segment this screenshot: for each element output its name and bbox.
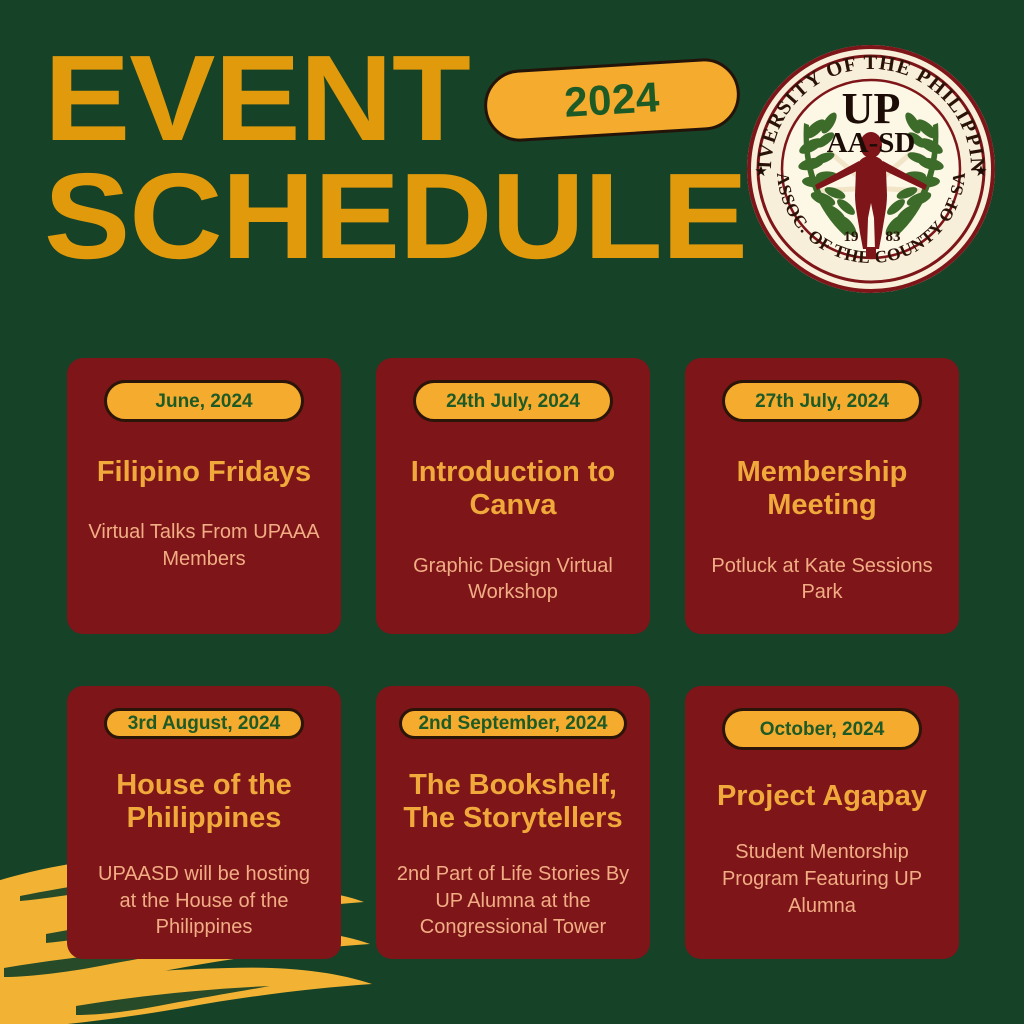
event-date-pill: 24th July, 2024 [413, 380, 613, 422]
seal-year-right: 83 [886, 229, 901, 245]
event-description: Student Mentorship Program Featuring UP … [699, 839, 945, 919]
event-card[interactable]: 3rd August, 2024 House of the Philippine… [67, 686, 341, 959]
seal-icon: UNIVERSITY OF THE PHILIPPINES ALUMNI ASS… [745, 43, 997, 295]
event-date-label: 2nd September, 2024 [418, 714, 607, 733]
event-description: Potluck at Kate Sessions Park [699, 553, 945, 606]
event-title: Membership Meeting [699, 456, 945, 523]
title-line-schedule: SCHEDULE [44, 160, 786, 272]
event-card[interactable]: 24th July, 2024 Introduction to Canva Gr… [376, 358, 650, 634]
event-date-label: October, 2024 [760, 720, 885, 739]
event-date-pill: 27th July, 2024 [722, 380, 922, 422]
event-title: The Bookshelf, The Storytellers [390, 769, 636, 836]
seal-chapter: AA-SD [827, 127, 916, 159]
event-card[interactable]: 27th July, 2024 Membership Meeting Potlu… [685, 358, 959, 634]
event-description: Virtual Talks From UPAAA Members [81, 519, 327, 572]
upaasd-logo-seal: UNIVERSITY OF THE PHILIPPINES ALUMNI ASS… [745, 43, 997, 295]
event-card[interactable]: 2nd September, 2024 The Bookshelf, The S… [376, 686, 650, 959]
event-date-label: June, 2024 [155, 392, 252, 411]
seal-year-left: 19 [844, 229, 859, 245]
event-date-pill: October, 2024 [722, 708, 922, 750]
event-title: Introduction to Canva [390, 456, 636, 523]
event-date-pill: 2nd September, 2024 [399, 708, 626, 739]
event-date-label: 24th July, 2024 [446, 392, 580, 411]
event-cards-grid: June, 2024 Filipino Fridays Virtual Talk… [67, 358, 959, 959]
event-title: Project Agapay [713, 780, 931, 813]
event-date-pill: June, 2024 [104, 380, 304, 422]
seal-star-left-icon: ★ [754, 163, 767, 180]
event-card[interactable]: October, 2024 Project Agapay Student Men… [685, 686, 959, 959]
event-description: Graphic Design Virtual Workshop [390, 553, 636, 606]
seal-star-right-icon: ★ [974, 163, 987, 180]
event-card[interactable]: June, 2024 Filipino Fridays Virtual Talk… [67, 358, 341, 634]
year-badge-label: 2024 [563, 76, 661, 124]
event-title: House of the Philippines [81, 769, 327, 836]
event-title: Filipino Fridays [93, 456, 315, 489]
event-schedule-poster: EVENT SCHEDULE 2024 UNIVERSITY OF THE P [0, 0, 1024, 1024]
event-description: UPAASD will be hosting at the House of t… [81, 861, 327, 941]
event-date-pill: 3rd August, 2024 [104, 708, 304, 739]
event-date-label: 3rd August, 2024 [128, 714, 280, 733]
event-date-label: 27th July, 2024 [755, 392, 889, 411]
seal-initials: UP [842, 84, 901, 133]
poster-header: EVENT SCHEDULE 2024 UNIVERSITY OF THE P [0, 0, 1024, 330]
event-description: 2nd Part of Life Stories By UP Alumna at… [390, 861, 636, 941]
